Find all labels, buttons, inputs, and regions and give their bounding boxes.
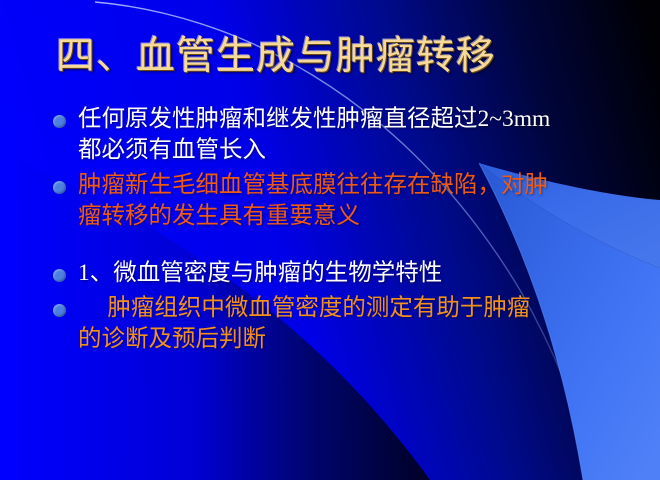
disc-bullet-icon — [53, 304, 66, 317]
list-item[interactable]: 任何原发性肿瘤和继发性肿瘤直径超过2~3mm 都必须有血管长入 — [0, 104, 660, 166]
bullet-text-3: 1、微血管密度与肿瘤的生物学特性 — [78, 258, 654, 289]
list-item[interactable]: 肿瘤组织中微血管密度的测定有助于肿瘤 的诊断及预后判断 — [0, 293, 660, 355]
list-item[interactable]: 肿瘤新生毛细血管基底膜往往存在缺陷，对肿 瘤转移的发生具有重要意义 — [0, 170, 660, 232]
bullet-text-2: 肿瘤新生毛细血管基底膜往往存在缺陷，对肿 瘤转移的发生具有重要意义 — [78, 170, 654, 232]
bullet-text-4: 肿瘤组织中微血管密度的测定有助于肿瘤 的诊断及预后判断 — [78, 293, 654, 355]
slide-body: 任何原发性肿瘤和继发性肿瘤直径超过2~3mm 都必须有血管长入 肿瘤新生毛细血管… — [0, 104, 660, 355]
disc-bullet-icon — [53, 269, 66, 282]
bullet-text-1: 任何原发性肿瘤和继发性肿瘤直径超过2~3mm 都必须有血管长入 — [78, 104, 654, 166]
disc-bullet-icon — [53, 115, 66, 128]
spacer — [0, 232, 660, 258]
presentation-slide: 四、血管生成与肿瘤转移 任何原发性肿瘤和继发性肿瘤直径超过2~3mm 都必须有血… — [0, 0, 660, 480]
slide-title: 四、血管生成与肿瘤转移 — [56, 36, 496, 79]
list-item[interactable]: 1、微血管密度与肿瘤的生物学特性 — [0, 258, 660, 289]
disc-bullet-icon — [53, 181, 66, 194]
